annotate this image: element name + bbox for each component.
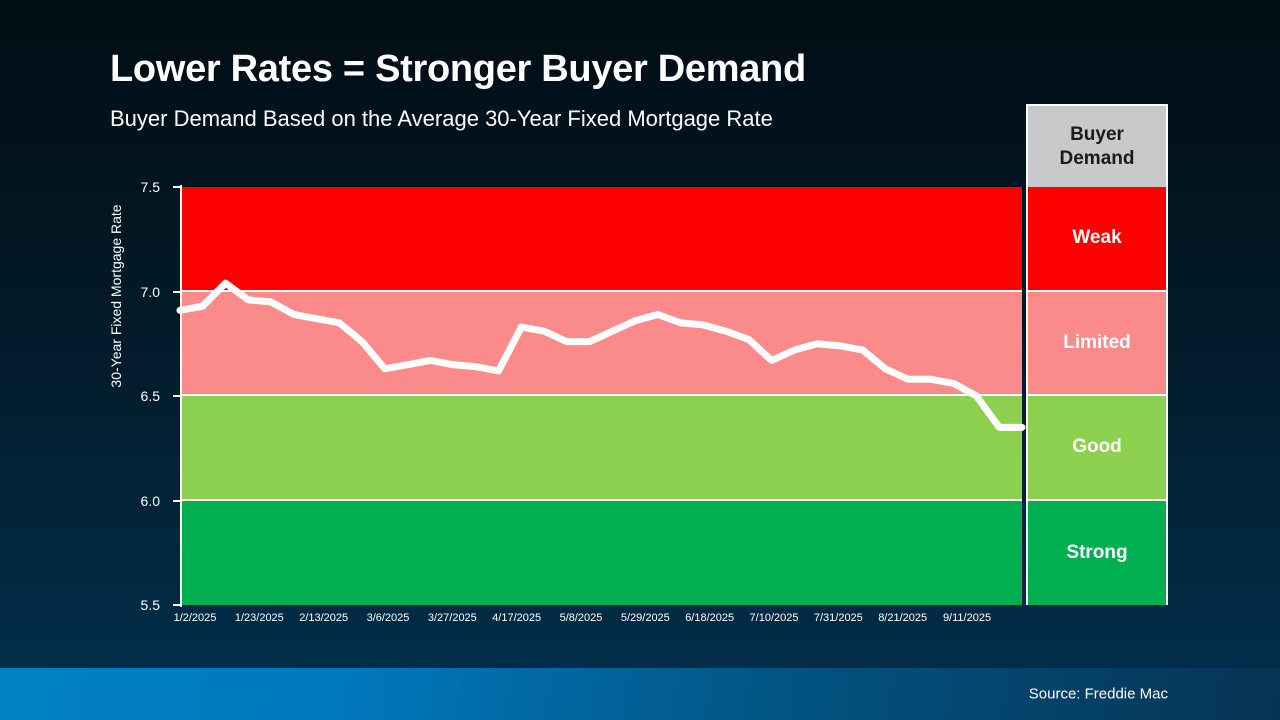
- y-axis-tick-label: 5.5: [114, 597, 160, 613]
- y-axis-tick-mark: [173, 186, 180, 188]
- x-axis-tick-label: 5/29/2025: [621, 612, 670, 624]
- legend-band-good: Good: [1028, 396, 1166, 501]
- x-axis-tick-label: 3/27/2025: [428, 612, 477, 624]
- x-axis-tick-label: 7/10/2025: [750, 612, 799, 624]
- x-axis-tick-label: 7/31/2025: [814, 612, 863, 624]
- rate-line-series: [180, 187, 1022, 605]
- footer-bar: Source: Freddie Mac: [0, 668, 1280, 720]
- x-axis-tick-label: 1/2/2025: [174, 612, 217, 624]
- legend-band-strong: Strong: [1028, 501, 1166, 606]
- legend-header-line1: Buyer: [1070, 124, 1124, 145]
- page-title: Lower Rates = Stronger Buyer Demand: [110, 48, 806, 91]
- legend-band-list: WeakLimitedGoodStrong: [1026, 187, 1168, 605]
- y-axis-line: [180, 185, 182, 607]
- y-axis-tick-mark: [173, 395, 180, 397]
- x-axis-tick-label: 9/11/2025: [943, 612, 991, 624]
- x-axis-tick-label: 1/23/2025: [235, 612, 284, 624]
- y-axis-tick-mark: [173, 291, 180, 293]
- x-axis-tick-label: 3/6/2025: [367, 612, 410, 624]
- page-subtitle: Buyer Demand Based on the Average 30-Yea…: [110, 106, 773, 132]
- x-axis-tick-label: 4/17/2025: [492, 612, 541, 624]
- x-axis-tick-label: 6/18/2025: [685, 612, 734, 624]
- legend-band-label: Strong: [1066, 542, 1127, 564]
- legend-band-label: Weak: [1072, 227, 1121, 249]
- legend-band-label: Good: [1072, 436, 1122, 458]
- source-attribution: Source: Freddie Mac: [1029, 686, 1168, 703]
- y-axis-tick-label: 6.0: [114, 493, 160, 509]
- legend-header: Buyer Demand: [1026, 104, 1168, 187]
- legend-band-label: Limited: [1063, 332, 1131, 354]
- x-axis-tick-label: 8/21/2025: [878, 612, 927, 624]
- y-axis-title: 30-Year Fixed Mortgage Rate: [108, 136, 124, 456]
- legend-header-line2: Demand: [1060, 148, 1135, 169]
- legend-band-limited: Limited: [1028, 292, 1166, 397]
- x-axis-tick-label: 5/8/2025: [560, 612, 603, 624]
- x-axis-tick-label: 2/13/2025: [299, 612, 348, 624]
- y-axis-tick-mark: [173, 604, 180, 606]
- legend-band-weak: Weak: [1028, 187, 1166, 292]
- buyer-demand-legend: Buyer Demand WeakLimitedGoodStrong: [1026, 104, 1168, 187]
- y-axis-tick-mark: [173, 500, 180, 502]
